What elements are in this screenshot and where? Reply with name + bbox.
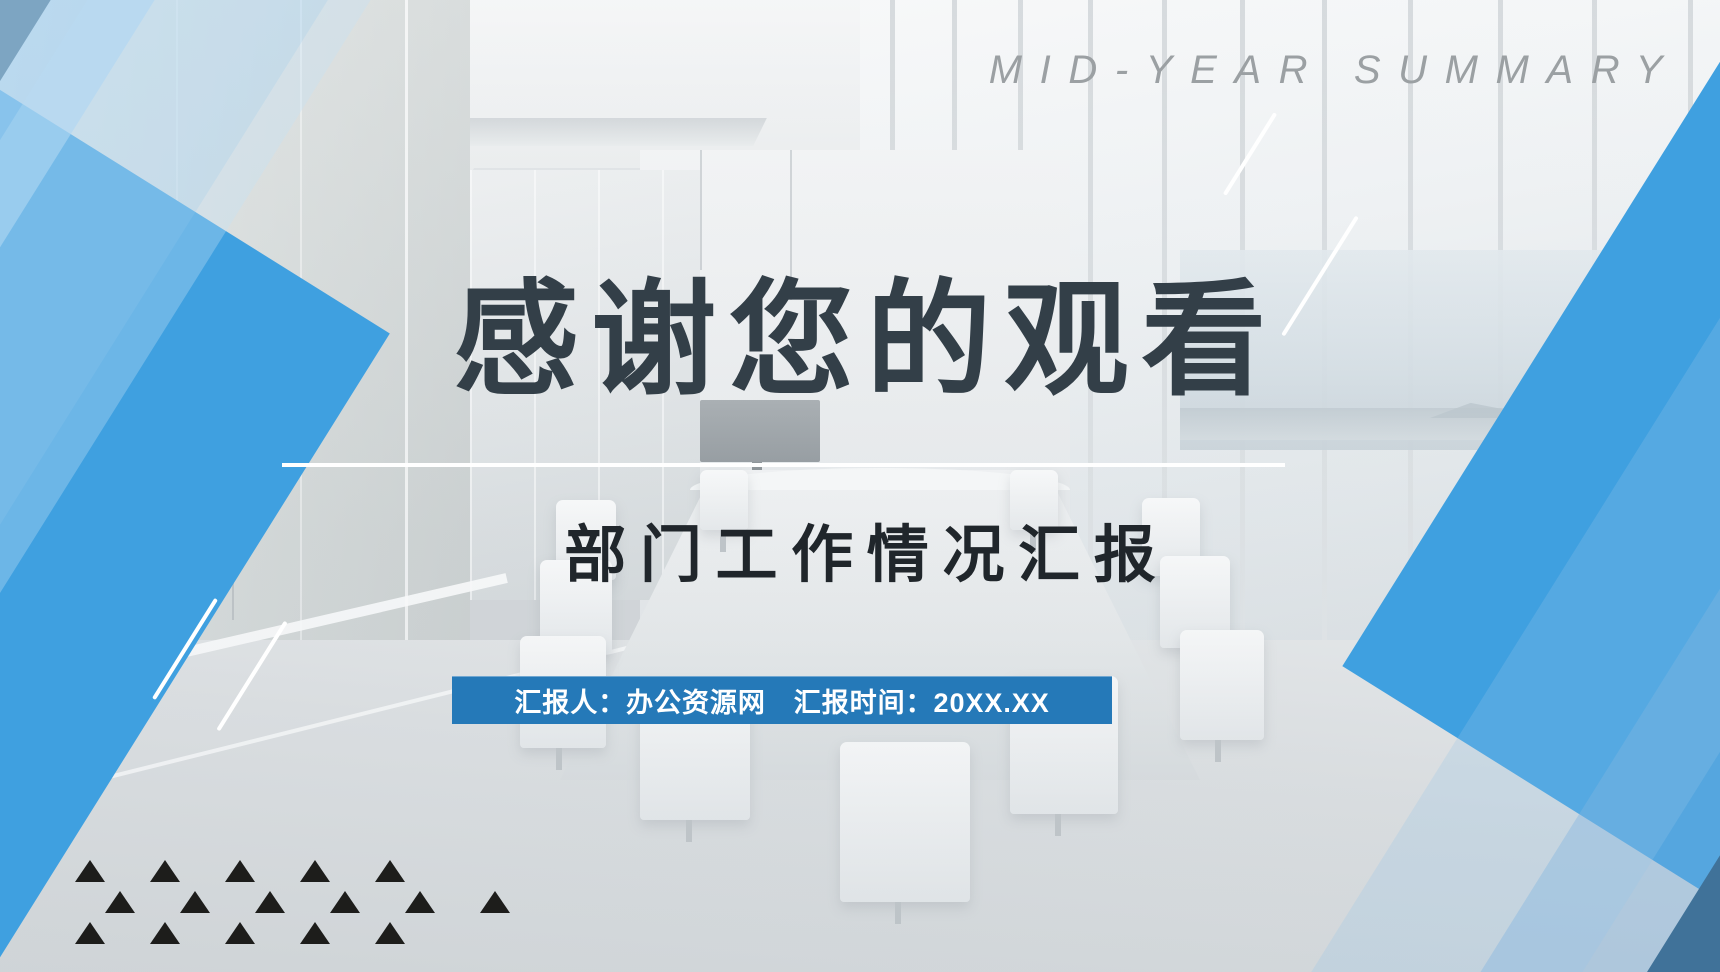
triangle-icon xyxy=(180,891,210,913)
presenter-info-banner: 汇报人：办公资源网 汇报时间：20XX.XX xyxy=(452,676,1112,724)
slide-subtitle: 部门工作情况汇报 xyxy=(0,525,1720,587)
presenter-info-text: 汇报人：办公资源网 汇报时间：20XX.XX xyxy=(514,681,1049,720)
triangle-icon xyxy=(300,922,330,944)
triangle-icon xyxy=(255,891,285,913)
triangle-decoration-grid xyxy=(75,860,510,953)
triangle-icon xyxy=(375,860,405,882)
triangle-icon xyxy=(225,860,255,882)
triangle-icon xyxy=(405,891,435,913)
triangle-row xyxy=(105,891,510,913)
triangle-icon xyxy=(480,891,510,913)
triangle-icon xyxy=(150,922,180,944)
slide-eyebrow-text: MID-YEAR SUMMARY xyxy=(0,48,1680,93)
background-photo xyxy=(0,0,1720,972)
triangle-icon xyxy=(75,922,105,944)
triangle-icon xyxy=(75,860,105,882)
title-divider-rule xyxy=(282,463,1285,467)
triangle-icon xyxy=(375,922,405,944)
slide-title: 感谢您的观看 xyxy=(0,278,1720,403)
triangle-row xyxy=(75,860,510,882)
triangle-icon xyxy=(105,891,135,913)
photo-color-wash xyxy=(0,0,1720,972)
triangle-icon xyxy=(330,891,360,913)
triangle-icon xyxy=(300,860,330,882)
triangle-icon xyxy=(150,860,180,882)
triangle-row xyxy=(75,922,510,944)
triangle-icon xyxy=(225,922,255,944)
presentation-slide: MID-YEAR SUMMARY 感谢您的观看 部门工作情况汇报 汇报人：办公资… xyxy=(0,0,1720,972)
